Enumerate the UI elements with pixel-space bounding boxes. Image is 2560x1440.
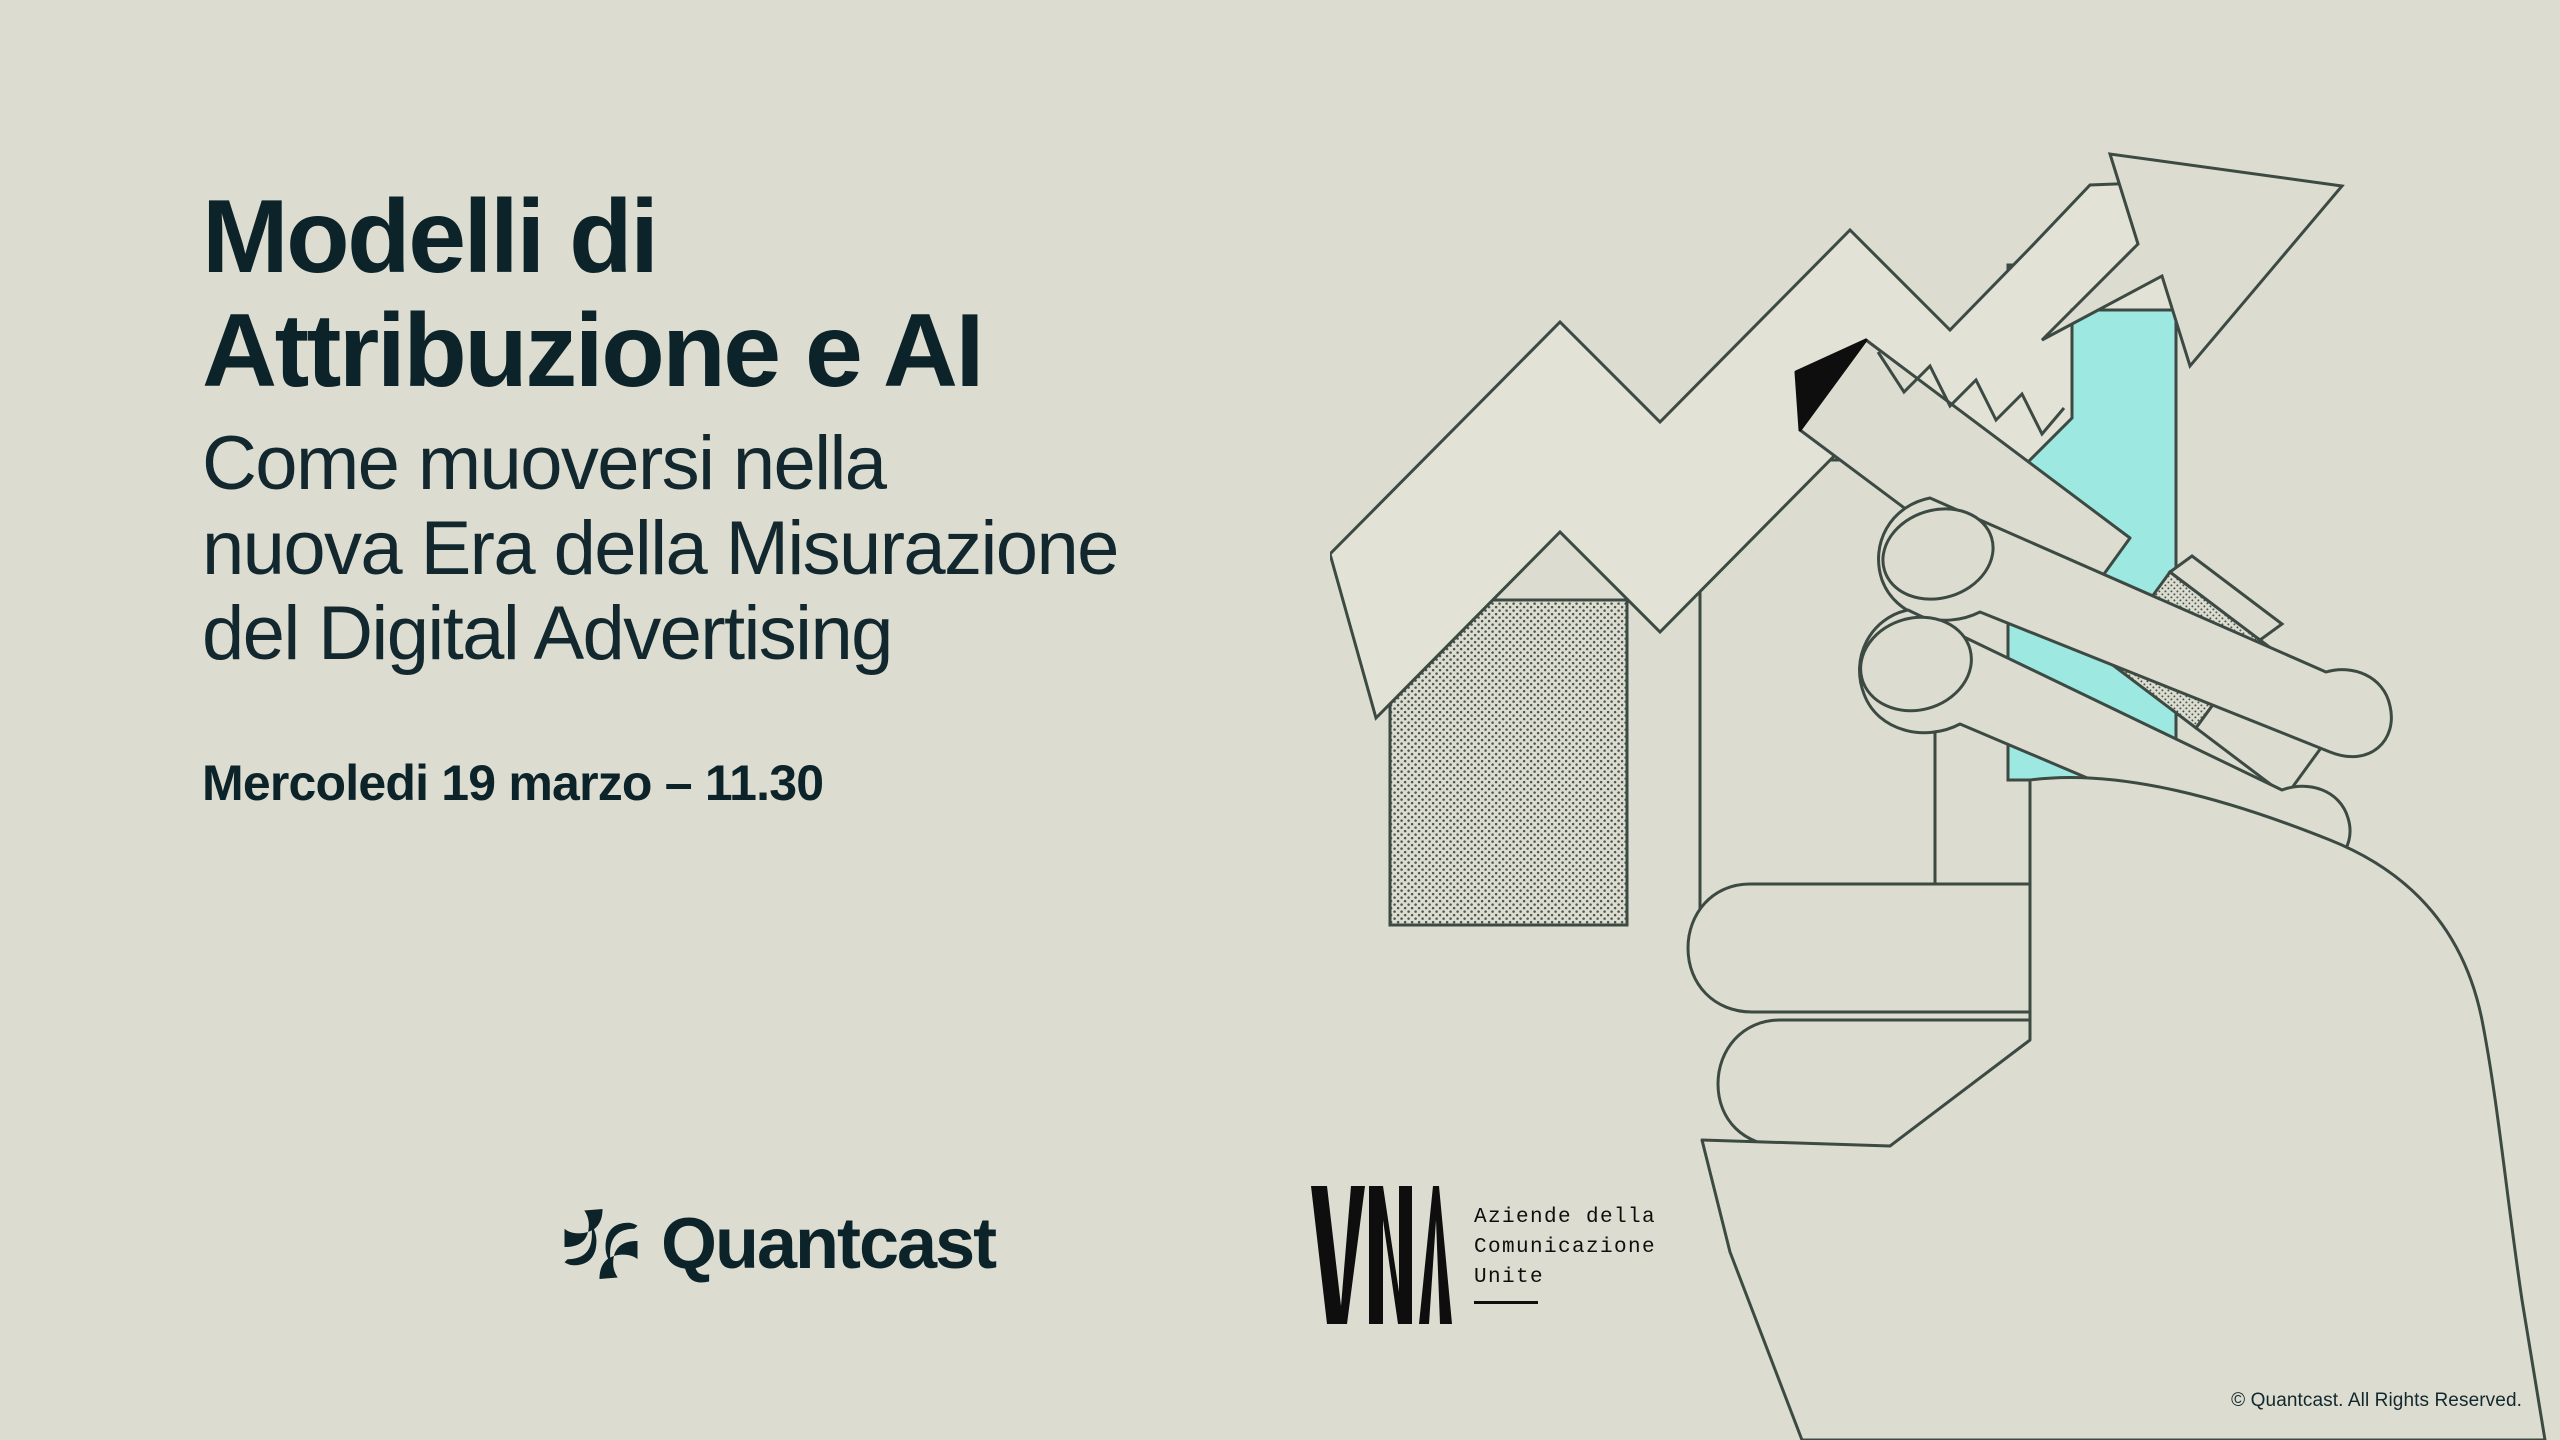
copyright-notice: © Quantcast. All Rights Reserved. (2231, 1390, 2522, 1412)
quantcast-logo[interactable]: Quantcast (563, 1206, 995, 1282)
vna-logo[interactable]: Aziende della Comunicazione Unite (1307, 1180, 1656, 1328)
hero-text-block: Modelli di Attribuzione e AI Come muover… (202, 180, 1352, 812)
quantcast-pinwheel-icon (563, 1206, 639, 1282)
page-title: Modelli di Attribuzione e AI (202, 180, 1352, 409)
vna-tagline-block: Aziende della Comunicazione Unite (1474, 1180, 1656, 1304)
poster-canvas: Modelli di Attribuzione e AI Come muover… (0, 0, 2560, 1440)
vna-underline-rule (1474, 1301, 1538, 1304)
vna-monogram-icon (1307, 1180, 1452, 1328)
quantcast-wordmark: Quantcast (661, 1208, 995, 1280)
page-subtitle: Come muoversi nella nuova Era della Misu… (202, 421, 1352, 676)
vna-tagline: Aziende della Comunicazione Unite (1474, 1180, 1656, 1292)
event-datetime: Mercoledi 19 marzo – 11.30 (202, 754, 1352, 812)
hand-illustration (1688, 496, 2545, 1440)
